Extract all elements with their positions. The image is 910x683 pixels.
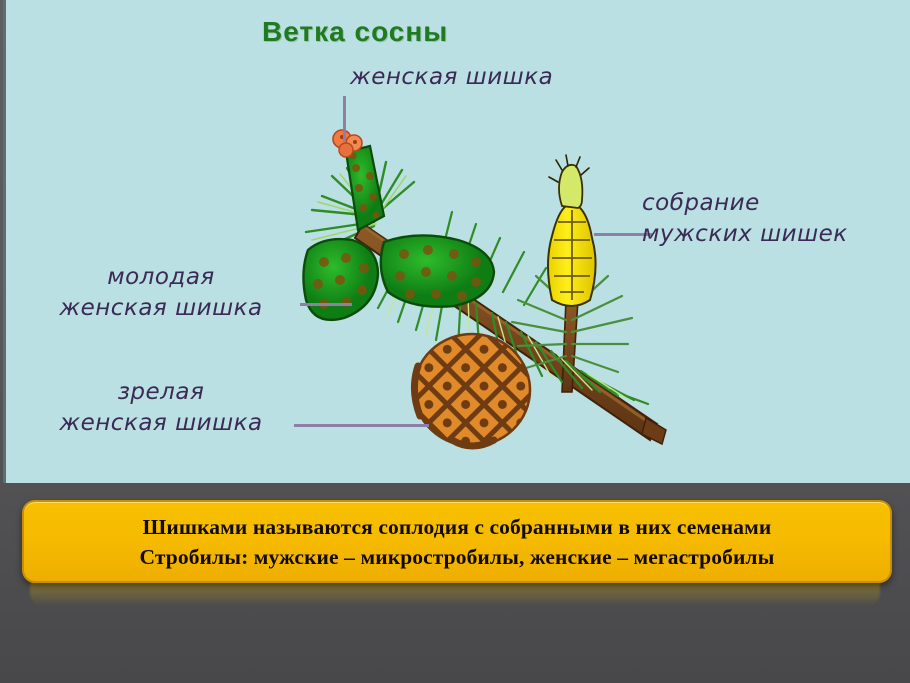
label-male-cones: собрание мужских шишек (642, 188, 848, 250)
male-cone-cluster (548, 155, 596, 306)
label-mature-female-cone-line1: зрелая (28, 377, 294, 408)
label-female-cone: женская шишка (350, 62, 553, 93)
caption-box: Шишками называются соплодия с собранными… (22, 500, 892, 583)
label-mature-female-cone-line2: женская шишка (28, 408, 294, 439)
label-young-female-cone-line1: молодая (28, 262, 294, 293)
label-young-female-cone-line2: женская шишка (28, 293, 294, 324)
young-female-cone-left (303, 239, 378, 320)
leader-line-mature-female-cone (294, 424, 429, 427)
label-young-female-cone: молодая женская шишка (28, 262, 294, 324)
young-female-cone-upper (333, 130, 384, 230)
leader-line-young-female-cone (300, 303, 352, 306)
young-female-cone-right (381, 235, 494, 306)
caption-box-reflection (30, 580, 880, 606)
slide-root: Ветка сосны (0, 0, 910, 683)
label-male-cones-line1: собрание (642, 188, 848, 219)
mature-female-cone (414, 334, 530, 446)
label-male-cones-line2: мужских шишек (642, 219, 848, 250)
label-mature-female-cone: зрелая женская шишка (28, 377, 294, 439)
caption-line-1: Шишками называются соплодия с собранными… (143, 512, 772, 542)
illustration-panel: Ветка сосны (3, 0, 910, 483)
caption-line-2: Стробилы: мужские – микростробилы, женск… (140, 542, 775, 572)
leader-line-female-cone (343, 96, 346, 142)
